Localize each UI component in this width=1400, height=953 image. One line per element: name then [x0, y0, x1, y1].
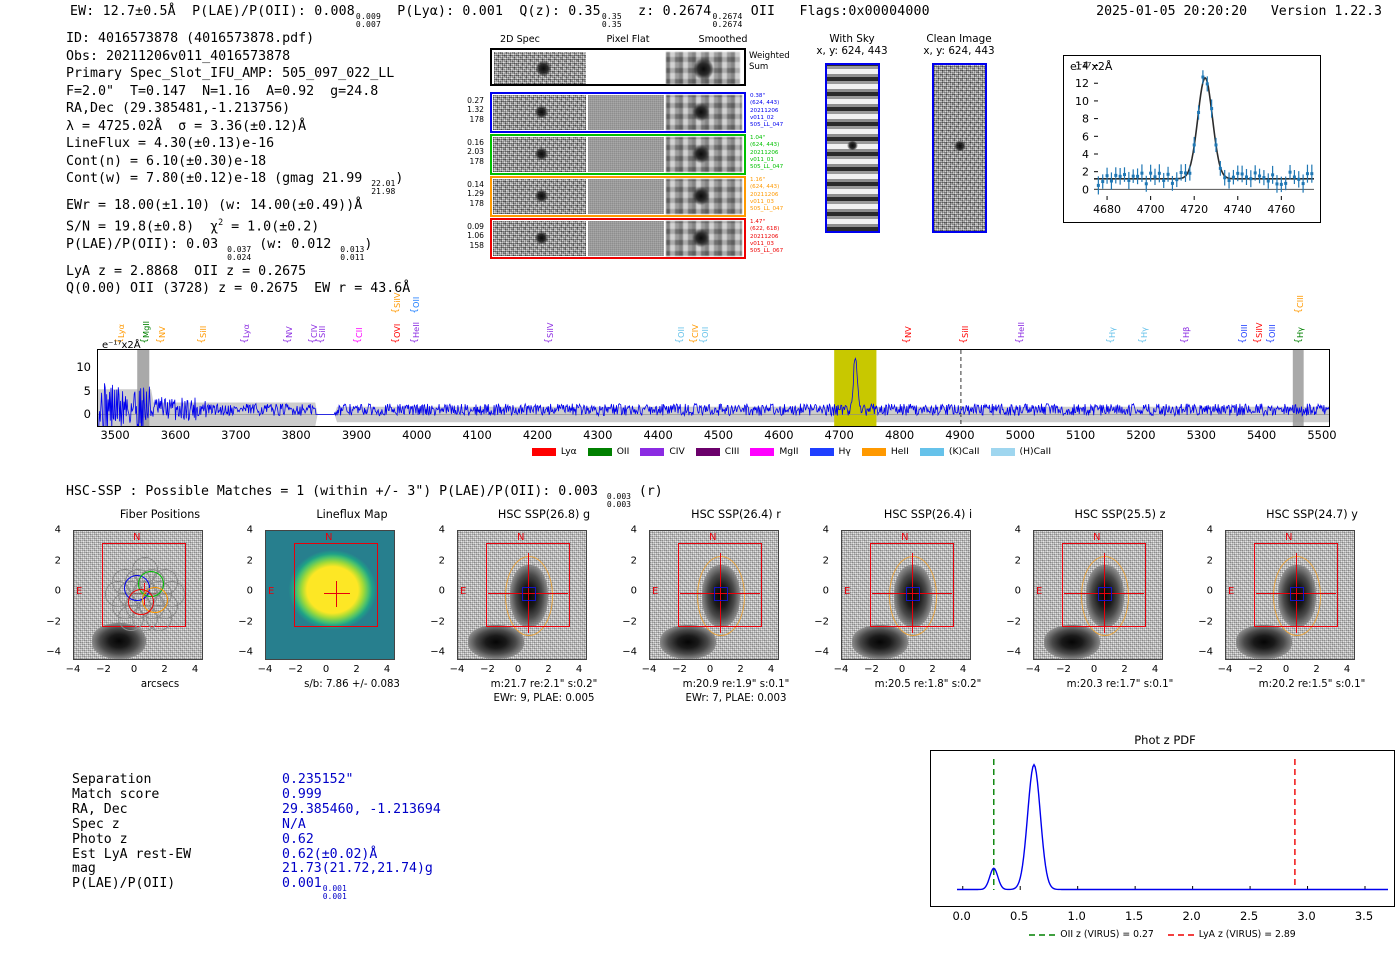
legend-swatch	[920, 448, 944, 456]
spectrum-xtick: 5100	[1066, 428, 1095, 442]
svg-text:14: 14	[1075, 60, 1089, 73]
spectrum-xtick: 4900	[945, 428, 974, 442]
compass-e: E	[1228, 586, 1234, 597]
emission-line-brace: {	[544, 338, 554, 344]
exposure-smoothed-image	[666, 221, 742, 256]
cutout-xtick: −4	[258, 664, 273, 675]
svg-text:0: 0	[1082, 183, 1089, 196]
cutout-xtick: 2	[737, 664, 743, 675]
phot-z-xtick: 2.0	[1182, 909, 1200, 923]
match-table-value: 21.73(21.72,21.74)g	[282, 862, 433, 877]
cutout-title: HSC SSP(26.8) g	[449, 508, 639, 521]
exposure-stats: 0.141.29178	[450, 180, 484, 208]
weighted-sum-row	[490, 48, 746, 86]
exposure-pixelflat-image	[588, 179, 664, 214]
cutout-xtick: 2	[161, 664, 167, 675]
exposure-pixelflat-image	[588, 95, 664, 130]
cutout-xtick: 2	[1121, 664, 1127, 675]
spectrum-legend: LyαOIICIVCIIIMgIIHγHeII(K)CaII(H)CaII	[437, 446, 1157, 457]
phot-z-pdf-panel: Phot z PDF 0.00.51.01.52.02.53.03.5 OII …	[930, 733, 1400, 948]
phot-z-axes	[930, 750, 1395, 907]
compass-e: E	[1036, 586, 1042, 597]
emission-line-brace: {	[1253, 338, 1263, 344]
exposure-smoothed-image	[666, 95, 742, 130]
weighted-sum-smoothed-image	[666, 52, 740, 84]
emission-line-brace: {	[197, 338, 207, 344]
emission-line-label: MgII	[141, 312, 151, 338]
cutout-xtick: 0	[131, 664, 137, 675]
compass-e: E	[76, 586, 82, 597]
svg-text:12: 12	[1075, 77, 1089, 90]
match-table-value: 0.0010.0010.001	[282, 877, 347, 901]
emission-line-brace: {	[240, 338, 250, 344]
compass-e: E	[460, 586, 466, 597]
cutout-panel-5[interactable]: HSC SSP(25.5) z420−2−4−4−2024NEm:20.3 re…	[1025, 508, 1215, 733]
phot-z-xticks: 0.00.51.01.52.02.53.03.5	[930, 909, 1395, 923]
hsc-summary: HSC-SSP : Possible Matches = 1 (within +…	[66, 484, 663, 509]
cutout-panel-3[interactable]: HSC SSP(26.4) r420−2−4−4−2024NEm:20.9 re…	[641, 508, 831, 733]
info-cont-w: Cont(w) = 7.80(±0.12)e-18 (gmag 21.99 22…	[66, 170, 410, 196]
info-id: ID: 4016573878 (4016573878.pdf)	[66, 30, 410, 48]
weighted-sum-2dspec-image	[494, 52, 586, 84]
emission-line-label: Lyα	[116, 312, 126, 338]
cutout-xtick: 4	[1344, 664, 1350, 675]
spec2d-panel-group: 2D Spec Pixel Flat Smoothed Weighted Sum…	[460, 34, 800, 256]
compass-n: N	[325, 532, 332, 543]
spectrum-xtick: 5500	[1307, 428, 1336, 442]
phot-z-xtick: 3.5	[1355, 909, 1373, 923]
emission-line-label: HeII	[411, 312, 421, 338]
spectrum-xtick: 5000	[1006, 428, 1035, 442]
cutout-caption-2: EWr: 7, PLAE: 0.003	[641, 693, 831, 704]
match-table-key: Spec z	[72, 818, 120, 833]
header-timestamp-version: 2025-01-05 20:20:20 Version 1.22.3	[1096, 4, 1382, 19]
emission-line-label: Hβ	[1181, 312, 1191, 338]
col-title-smoothed: Smoothed	[675, 34, 771, 45]
cutout-xtick: 4	[192, 664, 198, 675]
compass-n: N	[133, 532, 140, 543]
clean-image-panel: Clean Image x, y: 624, 443	[916, 33, 1002, 57]
spectrum-xtick: 4000	[402, 428, 431, 442]
cutout-ytick: −2	[1006, 616, 1021, 627]
cutout-title: HSC SSP(26.4) i	[833, 508, 1023, 521]
spectrum-canvas	[98, 350, 1329, 426]
hsc-cutout-image	[649, 530, 779, 660]
plae-range: 0.0090.007	[356, 13, 381, 30]
cutout-xtick: −4	[66, 664, 81, 675]
plae-label: P(LAE)/P(OII):	[192, 4, 306, 19]
full-spectrum-panel: Lyα{MgII{NV{SiII{Lyα{NV{CIV{SiII{CII{OVI…	[97, 280, 1330, 465]
spectrum-legend-item: Hγ	[810, 446, 851, 457]
cutout-ytick: −4	[1198, 647, 1213, 658]
cutout-xtick: 2	[1313, 664, 1319, 675]
cutout-ytick: 0	[439, 586, 445, 597]
emission-line-brace: {	[1294, 338, 1304, 344]
cutout-ytick: 0	[247, 586, 253, 597]
cutout-ytick: 4	[1015, 525, 1021, 536]
cutout-caption-1: m:20.9 re:1.9" s:0.1"	[641, 679, 831, 690]
col-title-2dspec: 2D Spec	[460, 34, 580, 45]
match-table-value: 0.235152"	[282, 773, 353, 788]
spectrum-xtick: 4400	[644, 428, 673, 442]
legend-swatch	[991, 448, 1015, 456]
hsc-cutout-image	[1033, 530, 1163, 660]
legend-label: HeII	[891, 446, 909, 457]
spectrum-legend-item: (H)CaII	[991, 446, 1052, 457]
match-table-value: 29.385460, -1.213694	[282, 803, 441, 818]
cutout-xtick: −2	[1056, 664, 1071, 675]
weighted-sum-pixelflat-image	[588, 52, 664, 84]
emission-line-label: Hγ	[1107, 312, 1117, 338]
phot-z-xtick: 0.0	[953, 909, 971, 923]
cutout-ytick: −4	[1006, 647, 1021, 658]
emission-line-brace: {	[353, 338, 363, 344]
cutout-xtick: −2	[672, 664, 687, 675]
cutout-xtick: 4	[768, 664, 774, 675]
exposure-pixelflat-image	[588, 221, 664, 256]
emission-line-label: SiIV	[1254, 312, 1264, 338]
emission-line-label: OII	[676, 312, 686, 338]
spectrum-xtick: 3500	[100, 428, 129, 442]
cutout-ytick: 0	[1015, 586, 1021, 597]
cutout-ytick: 2	[631, 555, 637, 566]
emission-line-brace: {	[1138, 338, 1148, 344]
cutout-title: HSC SSP(25.5) z	[1025, 508, 1215, 521]
exposure-rows: 0.271.321780.38"(624, 443)20211206v011_0…	[460, 92, 800, 260]
emission-line-labels: Lyα{MgII{NV{SiII{Lyα{NV{CIV{SiII{CII{OVI…	[97, 280, 1330, 349]
emission-line-brace: {	[156, 338, 166, 344]
z-value: 0.2674	[663, 4, 712, 19]
match-table-key: Est LyA rest-EW	[72, 848, 191, 863]
cutout-ytick: 0	[55, 586, 61, 597]
spectrum-xtick: 4200	[523, 428, 552, 442]
hsc-cutout-image	[841, 530, 971, 660]
svg-text:4760: 4760	[1267, 203, 1295, 216]
emission-line-brace: {	[902, 338, 912, 344]
cutout-xtick: 0	[515, 664, 521, 675]
phot-z-legend: OII z (VIRUS) = 0.27LyA z (VIRUS) = 2.89	[930, 929, 1395, 940]
cutout-row: Fiber Positions420−2−4−4−2024NEarcsecsLi…	[40, 508, 1380, 733]
exposure-2dspec-image	[493, 179, 586, 214]
phot-z-xtick: 1.0	[1068, 909, 1086, 923]
legend-swatch	[640, 448, 664, 456]
plya-label: P(Lyα):	[397, 4, 454, 19]
exposure-stats: 0.271.32178	[450, 96, 484, 124]
spectrum-legend-item: HeII	[862, 446, 909, 457]
spectrum-xtick: 5200	[1126, 428, 1155, 442]
with-sky-title: With Sky	[815, 33, 889, 45]
legend-swatch	[588, 448, 612, 456]
emission-line-label: Lyα	[241, 312, 251, 338]
compass-e: E	[652, 586, 658, 597]
spectrum-ytick: 10	[76, 360, 91, 374]
object-info-block: ID: 4016573878 (4016573878.pdf) Obs: 202…	[66, 30, 410, 298]
exposure-stats: 0.162.03178	[450, 138, 484, 166]
match-table-key: Separation	[72, 773, 151, 788]
cutout-ytick: 0	[823, 586, 829, 597]
cutout-panel-6[interactable]: HSC SSP(24.7) y420−2−4−4−2024NEm:20.2 re…	[1217, 508, 1400, 733]
spectrum-legend-item: (K)CaII	[920, 446, 980, 457]
cutout-ytick: 4	[823, 525, 829, 536]
exposure-pixelflat-image	[588, 137, 664, 172]
exposure-meta: 1.16"(624, 443)20211206v011_03505_LL_047	[750, 177, 798, 213]
emission-line-brace: {	[1238, 338, 1248, 344]
cutout-ytick: −2	[46, 616, 61, 627]
info-specslot: Primary Spec_Slot_IFU_AMP: 505_097_022_L…	[66, 65, 410, 83]
info-obs: Obs: 20211206v011_4016573878	[66, 48, 410, 66]
line-fit-plot: e⁻¹⁷x2Å 0246810121446804700472047404760	[1063, 55, 1321, 223]
info-redshifts: LyA z = 2.8868 OII z = 0.2675	[66, 263, 410, 281]
spectrum-legend-item: OII	[588, 446, 630, 457]
emission-line-brace: {	[1106, 338, 1116, 344]
cutout-xtick: −2	[480, 664, 495, 675]
spectrum-ytick: 5	[84, 384, 91, 398]
cutout-panel-0[interactable]: Fiber Positions420−2−4−4−2024NEarcsecs	[65, 508, 255, 733]
clean-image-image	[932, 63, 987, 233]
exposure-stats: 0.091.06158	[450, 222, 484, 250]
exposure-meta: 1.47"(622, 618)20211206v011_03505_LL_067	[750, 219, 798, 255]
exposure-row	[490, 176, 746, 217]
emission-line-label: Hγ	[1295, 312, 1305, 338]
match-table-value: 0.62(±0.02)Å	[282, 848, 377, 863]
legend-swatch	[810, 448, 834, 456]
emission-line-label: HeII	[1016, 312, 1026, 338]
cutout-xtick: −4	[834, 664, 849, 675]
emission-line-label: NV	[284, 312, 294, 338]
emission-line-label: CIII	[1295, 282, 1305, 308]
cutout-xtick: −4	[642, 664, 657, 675]
spectrum-xtick: 3600	[161, 428, 190, 442]
cutout-caption-1: m:20.3 re:1.7" s:0.1"	[1025, 679, 1215, 690]
cutout-xtick: −4	[1218, 664, 1233, 675]
emission-line-brace: {	[959, 338, 969, 344]
plae-range-1: 0.0370.024	[227, 246, 251, 263]
plya-value: 0.001	[462, 4, 503, 19]
compass-n: N	[1093, 532, 1100, 543]
spectrum-legend-item: Lyα	[532, 446, 577, 457]
z-range: 0.26740.2674	[712, 13, 742, 30]
header-summary-line: EW: 12.7±0.5Å P(LAE)/P(OII): 0.0080.0090…	[70, 4, 930, 29]
cutout-caption-1: m:20.2 re:1.5" s:0.1"	[1217, 679, 1400, 690]
legend-label: Lyα	[561, 446, 577, 457]
emission-line-label: SiIV	[545, 312, 555, 338]
spectrum-xtick: 3700	[221, 428, 250, 442]
exposure-row	[490, 134, 746, 175]
emission-line-brace: {	[1266, 338, 1276, 344]
emission-line-label: CIV	[690, 312, 700, 338]
cutout-caption-2: EWr: 9, PLAE: 0.005	[449, 693, 639, 704]
cutout-ytick: −2	[814, 616, 829, 627]
emission-line-label: Hγ	[1139, 312, 1149, 338]
legend-dash-icon	[1029, 932, 1055, 938]
cutout-panel-2[interactable]: HSC SSP(26.8) g420−2−4−4−2024NEm:21.7 re…	[449, 508, 639, 733]
emission-line-brace: {	[1015, 338, 1025, 344]
fiber-positions-image	[73, 530, 203, 660]
svg-text:4: 4	[1082, 148, 1089, 161]
spectrum-xtick: 3800	[281, 428, 310, 442]
legend-label: Hγ	[839, 446, 851, 457]
info-sn-chi2: S/N = 19.8(±0.8) χ2 = 1.0(±0.2)	[66, 214, 410, 236]
cutout-ytick: −2	[430, 616, 445, 627]
cutout-xtick: −2	[96, 664, 111, 675]
timestamp: 2025-01-05 20:20:20	[1096, 4, 1247, 19]
cutout-title: Fiber Positions	[65, 508, 255, 521]
cutout-title: HSC SSP(26.4) r	[641, 508, 831, 521]
emission-line-label: OII	[411, 282, 421, 308]
info-plae: P(LAE)/P(OII): 0.03 0.0370.024 (w: 0.012…	[66, 236, 410, 262]
emission-line-label: OII	[700, 312, 710, 338]
emission-line-brace: {	[675, 338, 685, 344]
match-table: Separation0.235152"Match score0.999RA, D…	[72, 773, 492, 893]
compass-n: N	[901, 532, 908, 543]
legend-swatch	[862, 448, 886, 456]
legend-swatch	[696, 448, 720, 456]
info-lineflux: LineFlux = 4.30(±0.13)e-16	[66, 135, 410, 153]
linefit-canvas: 0246810121446804700472047404760	[1064, 56, 1320, 222]
svg-text:4740: 4740	[1224, 203, 1252, 216]
qz-range: 0.350.35	[602, 13, 622, 30]
cutout-ytick: 4	[439, 525, 445, 536]
hsc-cutout-image	[1225, 530, 1355, 660]
cutout-panel-1[interactable]: Lineflux Map420−2−4−4−2024NEs/b: 7.86 +/…	[257, 508, 447, 733]
compass-e: E	[844, 586, 850, 597]
spectrum-xtick: 4500	[704, 428, 733, 442]
z-label: z:	[638, 4, 654, 19]
legend-label: (K)CaII	[949, 446, 980, 457]
legend-label: (H)CaII	[1020, 446, 1052, 457]
spectrum-xtick: 4600	[764, 428, 793, 442]
weighted-sum-label: Weighted Sum	[749, 51, 790, 73]
cutout-ytick: 2	[439, 555, 445, 566]
lineflux-map-image	[265, 530, 395, 660]
cutout-xtick: 0	[1283, 664, 1289, 675]
clean-image-subtitle: x, y: 624, 443	[916, 45, 1002, 57]
emission-line-brace: {	[699, 338, 709, 344]
cutout-xtick: 0	[323, 664, 329, 675]
cutout-xtick: 4	[960, 664, 966, 675]
compass-e: E	[268, 586, 274, 597]
spectrum-legend-item: CIV	[640, 446, 684, 457]
match-table-key: RA, Dec	[72, 803, 128, 818]
cutout-caption-1: m:20.5 re:1.8" s:0.2"	[833, 679, 1023, 690]
cutout-ytick: −4	[622, 647, 637, 658]
cutout-ytick: 4	[247, 525, 253, 536]
spectrum-xtick: 5400	[1247, 428, 1276, 442]
cutout-ytick: 2	[1015, 555, 1021, 566]
legend-swatch	[532, 448, 556, 456]
cutout-xtick: 2	[545, 664, 551, 675]
cutout-panel-4[interactable]: HSC SSP(26.4) i420−2−4−4−2024NEm:20.5 re…	[833, 508, 1023, 733]
match-table-key: Match score	[72, 788, 159, 803]
exposure-meta: 1.04"(624, 443)20211206v011_01505_LL_047	[750, 135, 798, 171]
spectrum-xtick: 3900	[342, 428, 371, 442]
cutout-ytick: −4	[238, 647, 253, 658]
with-sky-subtitle: x, y: 624, 443	[815, 45, 889, 57]
cutout-xtick: −2	[288, 664, 303, 675]
cutout-caption-1: m:21.7 re:2.1" s:0.2"	[449, 679, 639, 690]
phot-z-xtick: 1.5	[1125, 909, 1143, 923]
info-lambda-sigma: λ = 4725.02Å σ = 3.36(±0.12)Å	[66, 118, 410, 136]
spectrum-xtick: 4300	[583, 428, 612, 442]
svg-text:2: 2	[1082, 166, 1089, 179]
svg-text:4720: 4720	[1180, 203, 1208, 216]
emission-line-label: NV	[157, 312, 167, 338]
info-cont-n: Cont(n) = 6.10(±0.30)e-18	[66, 153, 410, 171]
exposure-smoothed-image	[666, 137, 742, 172]
phot-z-xtick: 3.0	[1297, 909, 1315, 923]
cutout-ytick: −2	[238, 616, 253, 627]
ew-value: 12.7±0.5Å	[103, 4, 176, 19]
legend-label: CIV	[669, 446, 684, 457]
spectrum-xtick: 4700	[825, 428, 854, 442]
svg-text:4700: 4700	[1137, 203, 1165, 216]
cutout-xtick: 4	[384, 664, 390, 675]
cutout-ytick: 0	[631, 586, 637, 597]
exposure-meta: 0.38"(624, 443)20211206v011_02505_LL_047	[750, 93, 798, 129]
spectrum-xtick: 4800	[885, 428, 914, 442]
exposure-2dspec-image	[493, 137, 586, 172]
emission-line-label: CII	[354, 312, 364, 338]
cutout-xtick: 2	[353, 664, 359, 675]
ew-label: EW:	[70, 4, 94, 19]
cutout-xtick: 0	[899, 664, 905, 675]
qz-value: 0.35	[568, 4, 601, 19]
info-params: F=2.0" T=0.147 N=1.16 A=0.92 g=24.8	[66, 83, 410, 101]
info-radec: RA,Dec (29.385481,-1.213756)	[66, 100, 410, 118]
cutout-ytick: 4	[1207, 525, 1213, 536]
cutout-xtick: 0	[1091, 664, 1097, 675]
emission-line-label: NV	[903, 312, 913, 338]
plae-range-2: 0.0130.011	[340, 246, 364, 263]
cutout-xtick: −4	[450, 664, 465, 675]
match-table-key: mag	[72, 862, 96, 877]
match-table-key: Photo z	[72, 833, 128, 848]
clean-image-title: Clean Image	[916, 33, 1002, 45]
cutout-ytick: 2	[247, 555, 253, 566]
cutout-ytick: 2	[55, 555, 61, 566]
emission-line-label: SiII	[198, 312, 208, 338]
emission-line-label: SiIV	[392, 282, 402, 308]
cutout-ytick: 0	[1207, 586, 1213, 597]
emission-line-brace: {	[410, 338, 420, 344]
emission-line-label: OVI	[392, 312, 402, 338]
exposure-row	[490, 92, 746, 133]
gmag-range: 22.0121.98	[371, 180, 395, 197]
emission-line-label: SiII	[317, 312, 327, 338]
phot-z-legend-label: LyA z (VIRUS) = 2.89	[1199, 929, 1296, 940]
match-table-value: N/A	[282, 818, 306, 833]
version: Version 1.22.3	[1271, 4, 1382, 19]
spectrum-xtick: 5300	[1187, 428, 1216, 442]
exposure-smoothed-image	[666, 179, 742, 214]
phot-z-xtick: 0.5	[1010, 909, 1028, 923]
cutout-ytick: 4	[55, 525, 61, 536]
phot-z-legend-label: OII z (VIRUS) = 0.27	[1060, 929, 1154, 940]
phot-z-title: Phot z PDF	[930, 733, 1400, 747]
emission-line-brace: {	[140, 338, 150, 344]
with-sky-image	[825, 63, 880, 233]
cutout-ytick: 2	[823, 555, 829, 566]
compass-n: N	[709, 532, 716, 543]
plae-value: 0.008	[314, 4, 355, 19]
cutout-title: HSC SSP(24.7) y	[1217, 508, 1400, 521]
match-table-key: P(LAE)/P(OII)	[72, 877, 175, 892]
legend-dash-icon	[1168, 932, 1194, 938]
compass-n: N	[1285, 532, 1292, 543]
hsc-plae-range: 0.0030.003	[607, 493, 631, 510]
cutout-xtick: 4	[576, 664, 582, 675]
legend-label: MgII	[779, 446, 798, 457]
